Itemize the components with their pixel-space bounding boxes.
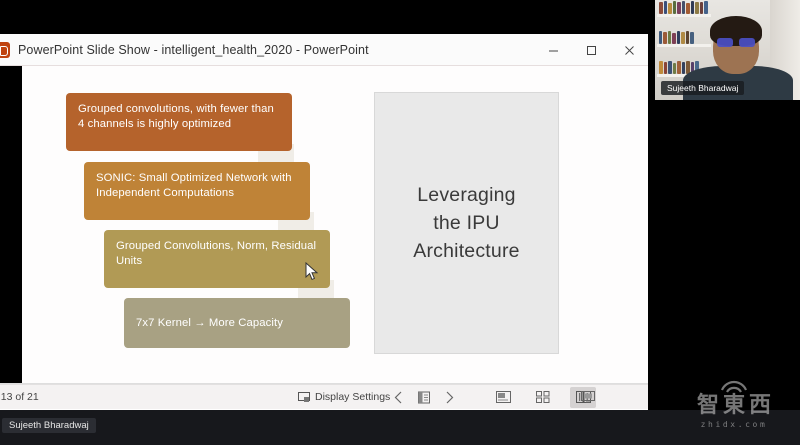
webcam-video-tile[interactable]: Sujeeth Bharadwaj: [655, 0, 800, 100]
process-box-2[interactable]: SONIC: Small Optimized Network with Inde…: [84, 162, 310, 220]
process-box-4[interactable]: 7x7 Kernel → More Capacity: [124, 298, 350, 348]
chevron-left-icon[interactable]: [394, 391, 403, 404]
display-settings-label: Display Settings: [315, 391, 390, 403]
slideshow-monitor-icon[interactable]: [576, 386, 600, 408]
bookshelf-plank-2: [657, 44, 711, 47]
powerpoint-icon: [0, 42, 10, 58]
powerpoint-window: PowerPoint Slide Show - intelligent_heal…: [0, 34, 648, 410]
mouse-pointer-icon: [305, 262, 319, 282]
slide-title-text: Leveraging the IPU Architecture: [413, 181, 519, 266]
chevron-right-icon[interactable]: [445, 391, 454, 404]
close-icon[interactable]: [610, 34, 648, 66]
window-titlebar: PowerPoint Slide Show - intelligent_heal…: [0, 34, 648, 66]
title-line-3: Architecture: [413, 240, 519, 262]
watermark-characters: 智 東 西: [680, 395, 788, 417]
watermark-char-3: 西: [749, 395, 771, 417]
maximize-icon[interactable]: [572, 34, 610, 66]
powerpoint-status-bar: e 13 of 21 Display Settings: [0, 384, 648, 409]
window-controls: [534, 34, 648, 66]
slide-left-letterbox: [0, 66, 22, 383]
wifi-arc-icon: [719, 380, 749, 393]
normal-view-icon[interactable]: [490, 387, 516, 408]
book-row-1: [659, 0, 709, 14]
bookshelf-plank-1: [657, 14, 711, 17]
webcam-participant-name: Sujeeth Bharadwaj: [661, 81, 744, 95]
title-line-2: the IPU: [433, 212, 499, 234]
book-row-2: [659, 30, 709, 44]
watermark-char-2: 東: [723, 395, 745, 417]
process-box-1[interactable]: Grouped convolutions, with fewer than 4 …: [66, 93, 292, 151]
zhidx-watermark: 智 東 西 zhidx.com: [680, 382, 788, 430]
watermark-url: zhidx.com: [680, 420, 788, 429]
slide-sorter-icon[interactable]: [530, 387, 556, 408]
title-line-1: Leveraging: [417, 184, 516, 206]
process-box-3[interactable]: Grouped Convolutions, Norm, Residual Uni…: [104, 230, 330, 288]
screen-share-backdrop: PowerPoint Slide Show - intelligent_heal…: [0, 0, 800, 445]
display-settings-icon: [298, 392, 310, 403]
slide-canvas[interactable]: Grouped convolutions, with fewer than 4 …: [0, 66, 648, 384]
eyeglasses: [717, 38, 755, 47]
slide-navigation-group: [394, 391, 454, 404]
slide-title-panel: Leveraging the IPU Architecture: [374, 92, 559, 354]
display-settings-button[interactable]: Display Settings: [298, 391, 390, 403]
window-title: PowerPoint Slide Show - intelligent_heal…: [18, 43, 369, 57]
minimize-icon[interactable]: [534, 34, 572, 66]
slide-counter: e 13 of 21: [0, 391, 39, 403]
slide-content: Grouped convolutions, with fewer than 4 …: [22, 66, 648, 383]
notes-panel-icon[interactable]: [417, 391, 431, 404]
watermark-char-1: 智: [697, 395, 719, 417]
presenter-name-label: Sujeeth Bharadwaj: [2, 418, 96, 433]
